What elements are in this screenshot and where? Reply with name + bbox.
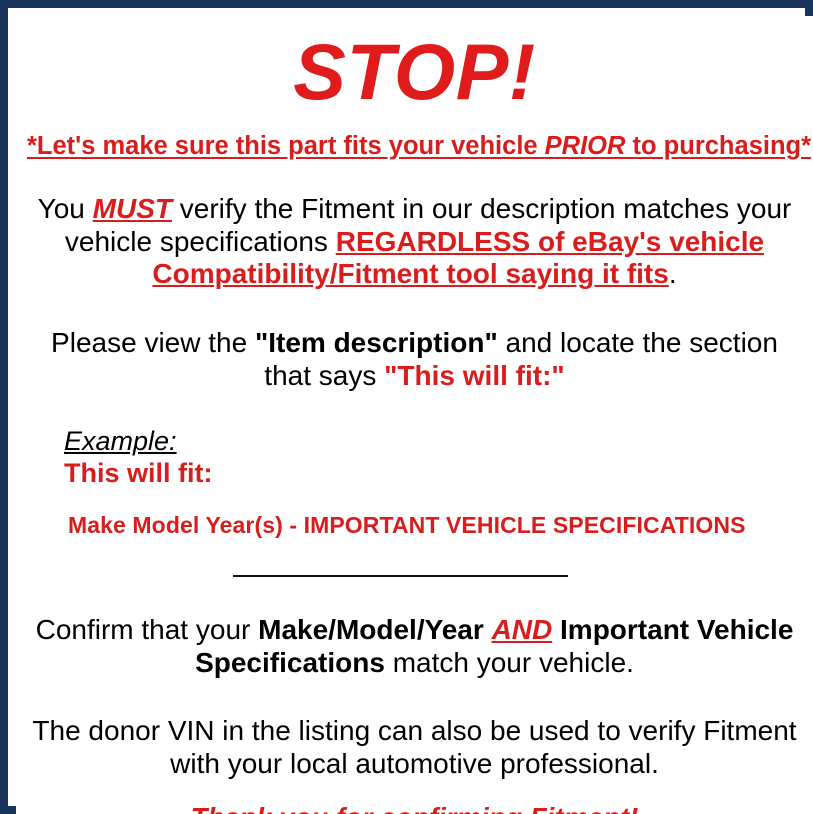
page-title: STOP!: [27, 16, 802, 113]
example-block: Example: This will fit: Make Model Year(…: [27, 393, 802, 539]
confirm-seg-lead: Confirm that your: [36, 614, 259, 645]
emphasis-make-model-year: Make/Model/Year: [258, 614, 484, 645]
paragraph-confirm: Confirm that your Make/Model/Year AND Im…: [27, 582, 802, 680]
divider-wrap: [27, 539, 802, 582]
example-label-row: Example:: [64, 427, 802, 457]
must-seg-period: .: [669, 258, 677, 289]
subtitle-banner: *Let's make sure this part fits your veh…: [27, 113, 802, 161]
subtitle-text-before: *Let's make sure this part fits your veh…: [27, 132, 545, 160]
horizontal-divider: [233, 575, 568, 577]
paragraph-must-verify: You MUST verify the Fitment in our descr…: [27, 161, 802, 291]
fitment-notice-page: STOP! *Let's make sure this part fits yo…: [0, 0, 813, 814]
notice-content: STOP! *Let's make sure this part fits yo…: [16, 16, 813, 814]
example-this-will-fit: This will fit:: [64, 456, 802, 489]
example-spec-line: Make Model Year(s) - IMPORTANT VEHICLE S…: [64, 489, 802, 538]
emphasis-and: AND: [492, 614, 553, 645]
closing-thank-you: Thank you for confirming Fitment!: [27, 781, 802, 814]
paragraph-view-description: Please view the "Item description" and l…: [27, 291, 802, 393]
confirm-seg-tail: match your vehicle.: [385, 647, 634, 678]
example-label: Example:: [64, 427, 177, 457]
emphasis-this-will-fit-quote: "This will fit:": [384, 360, 565, 391]
subtitle-emphasis-prior: PRIOR: [545, 132, 626, 160]
must-seg-lead: You: [38, 193, 93, 224]
emphasis-item-description: "Item description": [255, 327, 498, 358]
confirm-space-1: [484, 614, 492, 645]
subtitle-text-after: to purchasing*: [625, 132, 811, 160]
emphasis-must: MUST: [93, 193, 172, 224]
view-seg-lead: Please view the: [51, 327, 255, 358]
notice-border-frame: STOP! *Let's make sure this part fits yo…: [0, 0, 813, 814]
paragraph-donor-vin: The donor VIN in the listing can also be…: [27, 679, 802, 781]
